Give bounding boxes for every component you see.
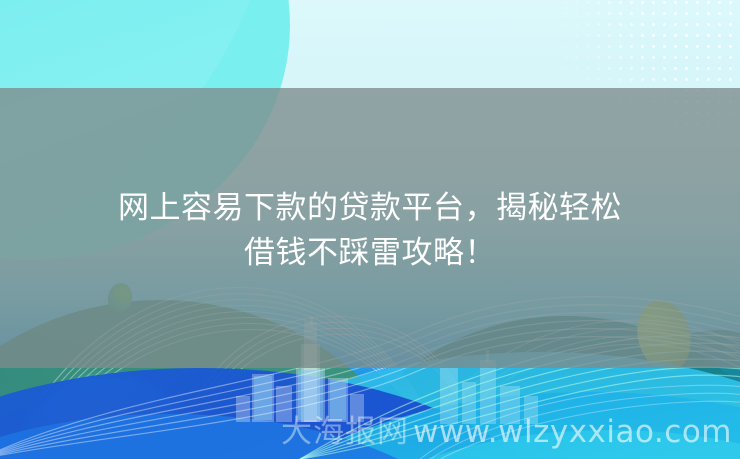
page-title: 网上容易下款的贷款平台，揭秘轻松 借钱不踩雷攻略！ (0, 186, 740, 276)
poster-canvas: 网上容易下款的贷款平台，揭秘轻松 借钱不踩雷攻略！ 大海报网 www.wlzyx… (0, 0, 740, 459)
title-line-2: 借钱不踩雷攻略！ (34, 231, 706, 276)
halftone-dots-top-right-icon (560, 0, 740, 176)
title-line-1: 网上容易下款的贷款平台，揭秘轻松 (34, 186, 706, 231)
